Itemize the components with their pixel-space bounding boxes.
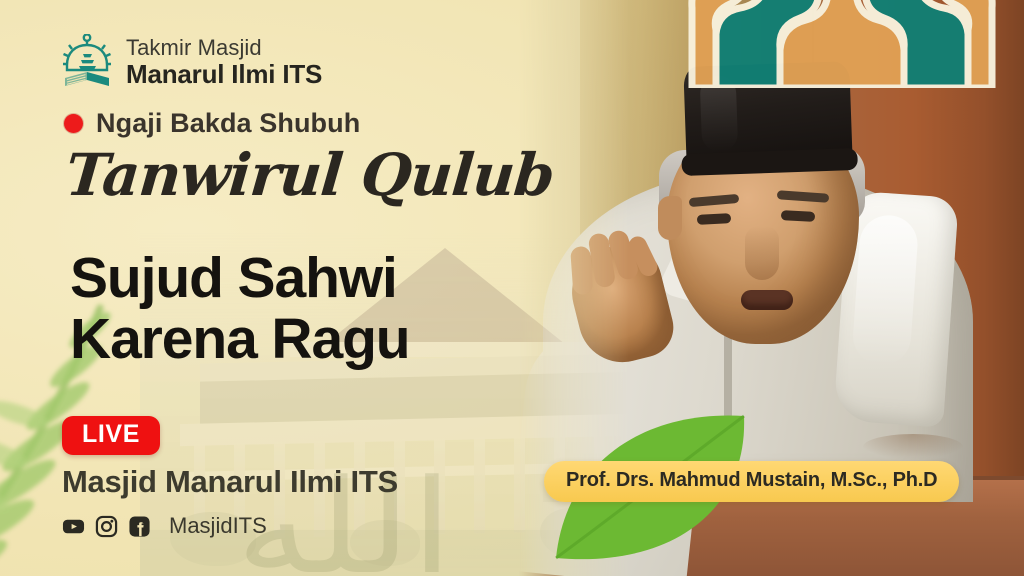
red-dot-icon bbox=[64, 114, 83, 133]
mosque-gear-emblem-icon bbox=[62, 34, 112, 90]
venue-name: Masjid Manarul Ilmi ITS bbox=[62, 464, 398, 500]
topic-line-2: Karena Ragu bbox=[70, 309, 410, 370]
youtube-icon[interactable] bbox=[62, 515, 85, 538]
social-links[interactable]: MasjidITS bbox=[62, 513, 267, 539]
brand-line-2: Manarul Ilmi ITS bbox=[126, 60, 322, 88]
program-eyebrow: Ngaji Bakda Shubuh bbox=[64, 108, 360, 139]
brand-lockup[interactable]: Takmir Masjid Manarul Ilmi ITS bbox=[62, 34, 322, 90]
topic-headline: Sujud Sahwi Karena Ragu bbox=[70, 248, 410, 370]
islamic-ornament-pattern-icon bbox=[682, 0, 1002, 88]
thumbnail-canvas: الله bbox=[0, 0, 1024, 576]
facebook-icon[interactable] bbox=[128, 515, 151, 538]
program-script-title: Tanwirul Qulub bbox=[63, 146, 556, 204]
program-eyebrow-label: Ngaji Bakda Shubuh bbox=[96, 108, 360, 139]
status-badge: LIVE bbox=[62, 416, 160, 455]
brand-line-1: Takmir Masjid bbox=[126, 36, 322, 60]
speaker-name-badge: Prof. Drs. Mahmud Mustain, M.Sc., Ph.D bbox=[544, 461, 959, 502]
topic-line-1: Sujud Sahwi bbox=[70, 248, 410, 309]
instagram-icon[interactable] bbox=[95, 515, 118, 538]
social-handle[interactable]: MasjidITS bbox=[169, 513, 267, 539]
